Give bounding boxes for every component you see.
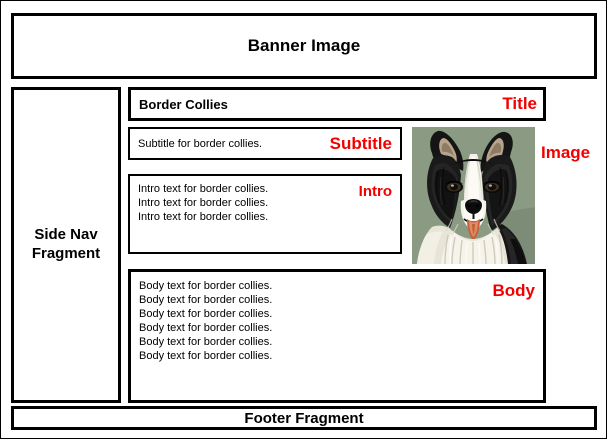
title-annotation-tag: Title xyxy=(502,94,537,114)
page-wireframe: Banner Image Side Nav Fragment Border Co… xyxy=(0,0,607,439)
title-region[interactable]: Border Collies Title xyxy=(128,87,546,121)
body-line: Body text for border collies. xyxy=(139,349,535,363)
subtitle-text: Subtitle for border collies. xyxy=(138,138,262,150)
intro-line: Intro text for border collies. xyxy=(138,196,392,210)
subtitle-region[interactable]: Subtitle for border collies. Subtitle xyxy=(128,127,402,160)
body-annotation-tag: Body xyxy=(493,281,536,301)
side-nav-label-line2: Fragment xyxy=(32,245,100,262)
banner-label: Banner Image xyxy=(248,36,360,56)
body-region[interactable]: Body text for border collies. Body text … xyxy=(128,269,546,403)
body-line: Body text for border collies. xyxy=(139,293,535,307)
side-nav-label: Side Nav Fragment xyxy=(32,226,100,264)
body-line: Body text for border collies. xyxy=(139,307,535,321)
side-nav-label-line1: Side Nav xyxy=(34,226,97,243)
body-line: Body text for border collies. xyxy=(139,321,535,335)
side-nav-fragment-region[interactable]: Side Nav Fragment xyxy=(11,87,121,403)
title-text: Border Collies xyxy=(139,97,228,112)
intro-region[interactable]: Intro text for border collies. Intro tex… xyxy=(128,174,402,254)
banner-image-region[interactable]: Banner Image xyxy=(11,13,597,79)
footer-label: Footer Fragment xyxy=(244,410,363,427)
intro-annotation-tag: Intro xyxy=(359,183,392,200)
body-text-block: Body text for border collies. Body text … xyxy=(139,279,535,363)
image-annotation-tag: Image xyxy=(541,143,590,163)
body-line: Body text for border collies. xyxy=(139,335,535,349)
border-collie-photo[interactable] xyxy=(412,127,535,264)
intro-line: Intro text for border collies. xyxy=(138,210,392,224)
footer-fragment-region[interactable]: Footer Fragment xyxy=(11,406,597,430)
subtitle-annotation-tag: Subtitle xyxy=(330,134,392,154)
intro-text-block: Intro text for border collies. Intro tex… xyxy=(138,182,392,224)
body-line: Body text for border collies. xyxy=(139,279,535,293)
intro-line: Intro text for border collies. xyxy=(138,182,392,196)
